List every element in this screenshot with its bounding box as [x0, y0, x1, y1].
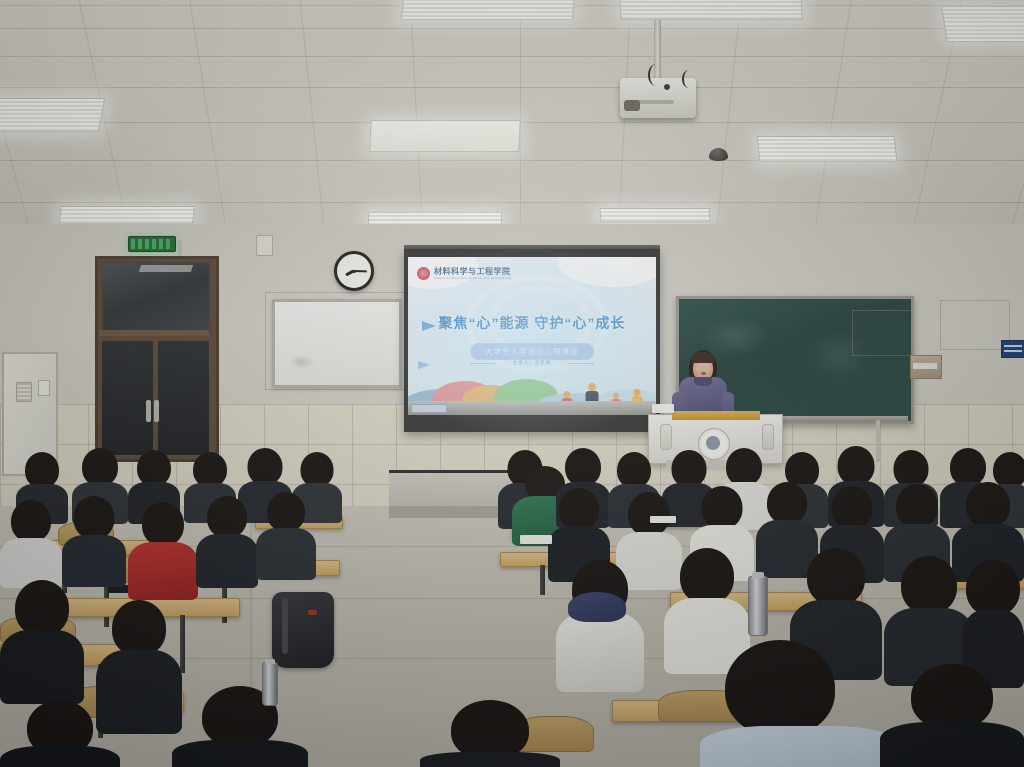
student — [196, 496, 258, 586]
student — [0, 580, 84, 700]
wall-panel-outline — [940, 300, 1010, 350]
speaker-collar — [694, 377, 712, 386]
transom-glare — [139, 265, 194, 272]
student — [256, 492, 316, 578]
wall-sensor-box — [256, 235, 273, 256]
door-leaf-right[interactable] — [155, 338, 212, 458]
projection-screen: 材料科学与工程学院 School of Materials Science an… — [404, 249, 660, 432]
projector-lens — [624, 100, 640, 111]
blue-wall-sign — [1001, 340, 1024, 358]
backpack — [272, 592, 334, 668]
student-light-blue-hoodie — [700, 640, 900, 767]
door-mid-rail — [99, 330, 209, 336]
student — [172, 686, 308, 767]
student — [62, 496, 126, 584]
slide-subtitle: 大学生入学适应心理讲座 — [485, 346, 579, 357]
blackboard-chalk-smudge — [700, 316, 770, 356]
projector-cable — [682, 70, 696, 88]
screen-bottom-bar — [408, 401, 656, 415]
paper-plane-icon — [418, 361, 430, 369]
cabinet-label — [38, 380, 50, 396]
student — [0, 500, 62, 586]
student — [420, 700, 560, 767]
screen-tag — [411, 404, 447, 413]
desk-leg — [540, 565, 545, 595]
student — [556, 560, 644, 688]
student — [0, 700, 120, 767]
ceiling-light-panel — [369, 120, 521, 152]
slide-title: 聚焦“心”能源 守护“心”成长 — [408, 313, 656, 333]
door-leaf-left[interactable] — [99, 338, 156, 458]
notebook-on-desk — [520, 535, 552, 544]
lecture-hall-photo: 材料科学与工程学院 School of Materials Science an… — [0, 0, 1024, 767]
slide-presenter: 主讲人：王老师 — [513, 360, 552, 366]
wall-clock — [334, 251, 374, 291]
student-hood — [568, 592, 626, 622]
cabinet-vent — [16, 382, 32, 402]
ceiling-light-panel — [0, 98, 105, 132]
podium-side-panel — [762, 424, 774, 450]
student — [880, 664, 1024, 767]
door-handle[interactable] — [154, 400, 159, 422]
ceiling-light-panel — [619, 0, 803, 20]
door-handle[interactable] — [146, 400, 151, 422]
clock-minute-hand — [354, 270, 367, 272]
podium-papers — [652, 404, 674, 413]
student-red-hoodie — [128, 502, 198, 598]
whiteboard — [272, 299, 402, 388]
slide-subtitle-pill: 大学生入学适应心理讲座 — [470, 343, 594, 360]
speaker-face — [696, 361, 710, 378]
ceiling-light-panel — [941, 6, 1024, 42]
podium-side-panel — [660, 424, 672, 450]
slide-logo-en: School of Materials Science and Engineer… — [434, 277, 511, 280]
ceiling-light-panel — [757, 136, 898, 162]
thermos-bottle — [748, 576, 768, 636]
thermos-bottle — [262, 662, 278, 706]
clock-center-pin — [353, 270, 356, 273]
wall-panel-outline — [852, 310, 912, 356]
ceiling-light-panel — [59, 206, 195, 224]
slide-logo: 材料科学与工程学院 School of Materials Science an… — [417, 266, 511, 280]
ceiling-light-panel — [401, 0, 576, 20]
presentation-slide: 材料科学与工程学院 School of Materials Science an… — [408, 257, 656, 415]
notebook-on-desk — [650, 516, 676, 523]
slide-logo-cn: 材料科学与工程学院 — [434, 266, 511, 277]
wall-box-insert — [913, 363, 937, 369]
projector-cable — [648, 64, 664, 86]
ceiling — [0, 0, 1024, 232]
podium-top-rail — [672, 411, 760, 420]
speaker-mouth — [701, 372, 706, 375]
speaker-fringe — [692, 352, 714, 363]
dome-security-camera — [709, 148, 728, 161]
emergency-exit-sign — [128, 236, 176, 252]
ceiling-light-panel — [600, 208, 711, 222]
university-logo-mark — [417, 267, 430, 280]
